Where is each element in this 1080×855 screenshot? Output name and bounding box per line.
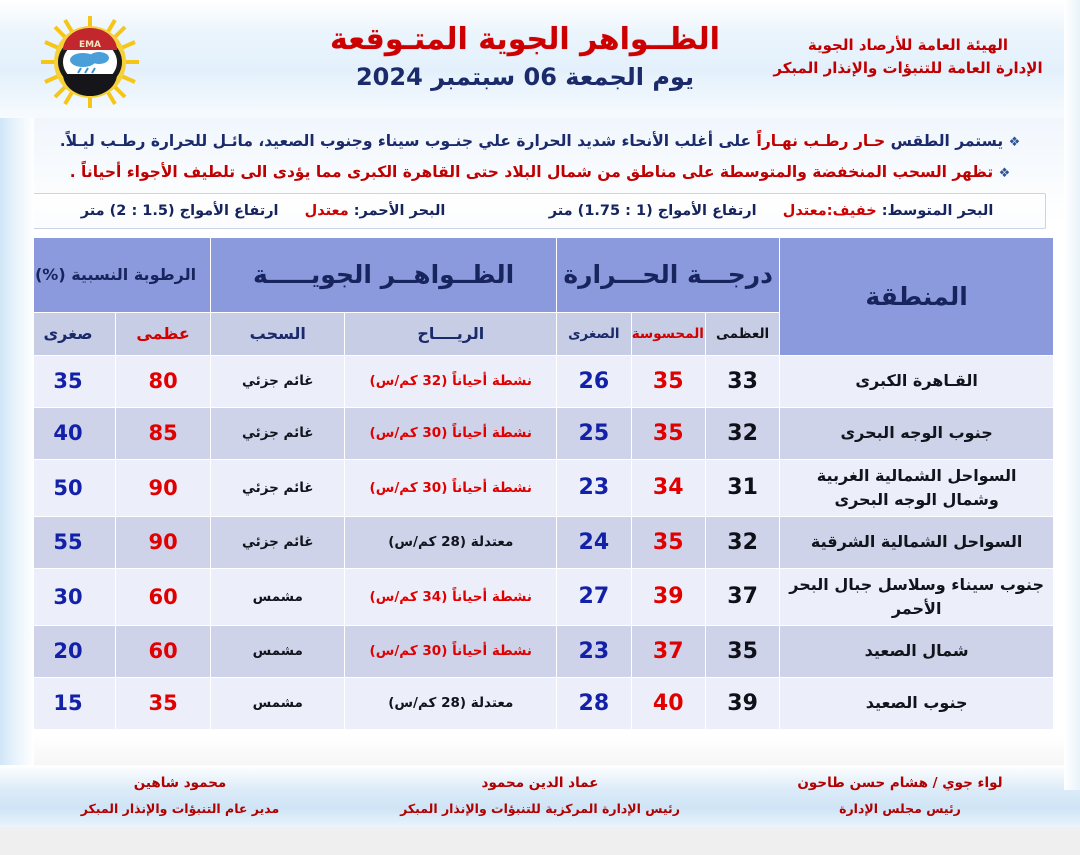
- cell-tfeel: 37: [631, 625, 705, 677]
- cell-cloud: مشمس: [211, 677, 345, 729]
- cell-wind: نشطة أحياناً (32 كم/س): [345, 355, 557, 407]
- cell-tfeel: 39: [631, 568, 705, 625]
- cell-tfeel: 35: [631, 516, 705, 568]
- med-sea-waves: ارتفاع الأمواج (1 : 1.75) متر: [549, 203, 757, 219]
- cell-tmin: 26: [557, 355, 631, 407]
- cell-region: شمال الصعيد: [780, 625, 1054, 677]
- signatory-role: رئيس الإدارة المركزية للتنبؤات والإنذار …: [360, 797, 720, 821]
- mediterranean-sea-conditions: البحر المتوسط: خفيف:معتدل ارتفاع الأمواج…: [549, 203, 994, 219]
- red-sea-conditions: البحر الأحمر: معتدل ارتفاع الأمواج (1.5 …: [81, 203, 446, 219]
- signatory-name: لواء جوي / هشام حسن طاحون: [720, 771, 1080, 797]
- cell-region: السواحل الشمالية الغربية وشمال الوجه الب…: [780, 459, 1054, 516]
- cell-cloud: مشمس: [211, 568, 345, 625]
- cell-tfeel: 40: [631, 677, 705, 729]
- cell-humidity-min: 20: [21, 625, 116, 677]
- forecast-table: المنطقة درجـــة الحـــرارة الظــواهــر ا…: [20, 237, 1054, 730]
- signatory-name: محمود شاهين: [0, 771, 360, 797]
- bullet-marker-icon: ❖: [1009, 135, 1021, 150]
- cell-cloud: غائم جزئي: [211, 407, 345, 459]
- cell-humidity-max: 85: [116, 407, 211, 459]
- bullet-part: تظهر السحب المنخفضة والمتوسطة على مناطق …: [70, 163, 993, 181]
- cell-humidity-min: 15: [21, 677, 116, 729]
- forecast-table-body: القـاهرة الكبرى 33 35 26 نشطة أحياناً (3…: [21, 355, 1054, 729]
- cell-humidity-min: 30: [21, 568, 116, 625]
- signature-block: عماد الدين محمود رئيس الإدارة المركزية ل…: [360, 771, 720, 820]
- med-sea-state: خفيف:معتدل: [783, 203, 877, 219]
- page-header: EMA الهيئة العامة للأرصاد الجوية الإدارة…: [0, 0, 1080, 118]
- forecast-table-wrapper: المنطقة درجـــة الحـــرارة الظــواهــر ا…: [20, 237, 1054, 730]
- subheader-humidity-min: صغرى: [21, 312, 116, 355]
- cell-humidity-max: 80: [116, 355, 211, 407]
- cell-tmax: 37: [705, 568, 779, 625]
- table-row: جنوب سيناء وسلاسل جبال البحر الأحمر 37 3…: [21, 568, 1054, 625]
- bullet-marker-icon: ❖: [999, 166, 1011, 181]
- bullet-item: ❖ تظهر السحب المنخفضة والمتوسطة على مناط…: [26, 161, 1054, 184]
- page-title: الظــواهر الجوية المتـوقعة: [310, 22, 740, 57]
- cell-humidity-max: 35: [116, 677, 211, 729]
- cell-cloud: مشمس: [211, 625, 345, 677]
- summary-bullets: ❖ يستمر الطقس حـار رطـب نهـاراً على أغلب…: [0, 118, 1080, 185]
- subheader-cloud: السحب: [211, 312, 345, 355]
- cell-tmax: 35: [705, 625, 779, 677]
- table-row: القـاهرة الكبرى 33 35 26 نشطة أحياناً (3…: [21, 355, 1054, 407]
- cell-humidity-min: 50: [21, 459, 116, 516]
- cell-humidity-min: 55: [21, 516, 116, 568]
- title-block: الظــواهر الجوية المتـوقعة يوم الجمعة 06…: [310, 22, 740, 91]
- ema-logo: EMA: [35, 14, 145, 110]
- header-region: المنطقة: [780, 237, 1054, 355]
- cell-cloud: غائم جزئي: [211, 516, 345, 568]
- cell-wind: معتدلة (28 كم/س): [345, 516, 557, 568]
- bullet-part: حـار رطـب نهـاراً: [757, 132, 886, 150]
- cell-tmin: 28: [557, 677, 631, 729]
- cell-humidity-max: 60: [116, 568, 211, 625]
- bullet-item: ❖ يستمر الطقس حـار رطـب نهـاراً على أغلب…: [26, 130, 1054, 153]
- cell-tmax: 39: [705, 677, 779, 729]
- subheader-tfeel: المحسوسة: [631, 312, 705, 355]
- table-row: شمال الصعيد 35 37 23 نشطة أحياناً (30 كم…: [21, 625, 1054, 677]
- subheader-wind: الريــــاح: [345, 312, 557, 355]
- table-row: جنوب الصعيد 39 40 28 معتدلة (28 كم/س) مش…: [21, 677, 1054, 729]
- table-row: السواحل الشمالية الشرقية 32 35 24 معتدلة…: [21, 516, 1054, 568]
- cell-tmin: 24: [557, 516, 631, 568]
- org-line-1: الهيئة العامة للأرصاد الجوية: [758, 34, 1058, 57]
- cell-wind: نشطة أحياناً (30 كم/س): [345, 407, 557, 459]
- cell-tmax: 32: [705, 516, 779, 568]
- cell-tmin: 23: [557, 625, 631, 677]
- cell-humidity-max: 60: [116, 625, 211, 677]
- cell-wind: نشطة أحياناً (30 كم/س): [345, 625, 557, 677]
- signatory-role: رئيس مجلس الإدارة: [720, 797, 1080, 821]
- subheader-humidity-max: عظمى: [116, 312, 211, 355]
- subheader-tmax: العظمى: [705, 312, 779, 355]
- forecast-poster: EMA الهيئة العامة للأرصاد الجوية الإدارة…: [0, 0, 1080, 855]
- med-sea-label: البحر المتوسط:: [882, 203, 994, 219]
- cell-tfeel: 34: [631, 459, 705, 516]
- cell-humidity-min: 40: [21, 407, 116, 459]
- cell-region: جنوب سيناء وسلاسل جبال البحر الأحمر: [780, 568, 1054, 625]
- svg-text:EMA: EMA: [79, 40, 101, 50]
- cell-region: السواحل الشمالية الشرقية: [780, 516, 1054, 568]
- subheader-tmin: الصغرى: [557, 312, 631, 355]
- cell-region: جنوب الوجه البحرى: [780, 407, 1054, 459]
- signatory-role: مدير عام التنبؤات والإنذار المبكر: [0, 797, 360, 821]
- cell-region: القـاهرة الكبرى: [780, 355, 1054, 407]
- cell-cloud: غائم جزئي: [211, 355, 345, 407]
- cell-wind: نشطة أحياناً (34 كم/س): [345, 568, 557, 625]
- forecast-date: يوم الجمعة 06 سبتمبر 2024: [310, 63, 740, 91]
- sea-conditions-bar: البحر المتوسط: خفيف:معتدل ارتفاع الأمواج…: [28, 193, 1046, 229]
- red-sea-label: البحر الأحمر:: [354, 203, 446, 219]
- org-line-2: الإدارة العامة للتنبؤات والإنذار المبكر: [758, 57, 1058, 80]
- red-sea-state: معتدل: [305, 203, 349, 219]
- header-phenomena: الظــواهــر الجويـــــة: [211, 237, 557, 312]
- cell-tmin: 25: [557, 407, 631, 459]
- cell-tmin: 27: [557, 568, 631, 625]
- header-temperature: درجـــة الحـــرارة: [557, 237, 780, 312]
- cell-tfeel: 35: [631, 355, 705, 407]
- cell-wind: معتدلة (28 كم/س): [345, 677, 557, 729]
- cell-humidity-max: 90: [116, 516, 211, 568]
- cell-tmax: 33: [705, 355, 779, 407]
- signature-block: لواء جوي / هشام حسن طاحون رئيس مجلس الإد…: [720, 771, 1080, 820]
- cell-tfeel: 35: [631, 407, 705, 459]
- table-row: السواحل الشمالية الغربية وشمال الوجه الب…: [21, 459, 1054, 516]
- cell-region: جنوب الصعيد: [780, 677, 1054, 729]
- cell-tmax: 32: [705, 407, 779, 459]
- page-footer: لواء جوي / هشام حسن طاحون رئيس مجلس الإد…: [0, 765, 1080, 827]
- cell-humidity-max: 90: [116, 459, 211, 516]
- table-row: جنوب الوجه البحرى 32 35 25 نشطة أحياناً …: [21, 407, 1054, 459]
- red-sea-waves: ارتفاع الأمواج (1.5 : 2) متر: [81, 203, 279, 219]
- signature-block: محمود شاهين مدير عام التنبؤات والإنذار ا…: [0, 771, 360, 820]
- cell-wind: نشطة أحياناً (30 كم/س): [345, 459, 557, 516]
- bullet-part: على أغلب الأنحاء شديد الحرارة علي جنـوب …: [60, 132, 751, 150]
- cell-humidity-min: 35: [21, 355, 116, 407]
- signatory-name: عماد الدين محمود: [360, 771, 720, 797]
- organization-name: الهيئة العامة للأرصاد الجوية الإدارة الع…: [758, 34, 1058, 79]
- cell-tmax: 31: [705, 459, 779, 516]
- cell-tmin: 23: [557, 459, 631, 516]
- header-humidity: الرطوبة النسبية (%): [21, 237, 211, 312]
- bullet-part: يستمر الطقس: [891, 132, 1004, 150]
- cell-cloud: غائم جزئي: [211, 459, 345, 516]
